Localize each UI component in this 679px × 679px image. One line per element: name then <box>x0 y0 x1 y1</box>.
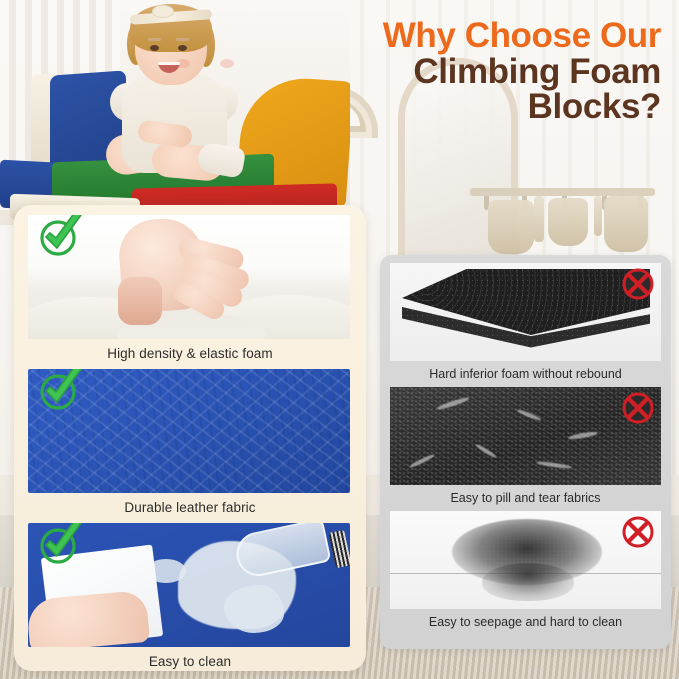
pro-image-leather-fabric <box>28 369 350 493</box>
green-check-icon <box>34 369 88 417</box>
hand-pressing-foam <box>112 219 262 325</box>
wall-hook-rail <box>470 188 655 196</box>
green-check-icon <box>34 215 88 263</box>
con-item-1: Hard inferior foam without rebound <box>390 263 661 386</box>
pro-caption-3: Easy to clean <box>28 647 352 675</box>
con-caption-2: Easy to pill and tear fabrics <box>390 485 661 510</box>
page-title: Why Choose Our Climbing Foam Blocks? <box>323 18 661 125</box>
pros-card: High density & elastic foam Durable leat… <box>14 205 366 671</box>
con-item-2: Easy to pill and tear fabrics <box>390 387 661 510</box>
pro-item-2: Durable leather fabric <box>28 369 352 521</box>
con-image-seepage-stain <box>390 511 661 609</box>
red-x-icon <box>621 391 655 425</box>
con-image-pilled-fabric <box>390 387 661 485</box>
headline-line-3: Blocks? <box>323 89 661 125</box>
con-item-3: Easy to seepage and hard to clean <box>390 511 661 634</box>
headline-line-2: Climbing Foam <box>323 54 661 90</box>
pro-item-3: Easy to clean <box>28 523 352 675</box>
pro-image-high-density-foam <box>28 215 350 339</box>
con-caption-3: Easy to seepage and hard to clean <box>390 609 661 634</box>
tassel-decor-2 <box>594 196 602 236</box>
hanging-basket-2 <box>548 198 588 246</box>
cons-card: Hard inferior foam without rebound Easy … <box>380 255 671 649</box>
baby-eye-left <box>150 45 159 51</box>
pro-caption-2: Durable leather fabric <box>28 493 352 521</box>
hanging-basket-3 <box>604 196 648 252</box>
baby-eye-right <box>178 45 187 51</box>
pro-image-easy-to-clean <box>28 523 350 647</box>
con-caption-1: Hard inferior foam without rebound <box>390 361 661 386</box>
pro-item-1: High density & elastic foam <box>28 215 352 367</box>
baby-bow <box>152 5 174 18</box>
con-image-hard-foam <box>390 263 661 361</box>
hero-product-photo <box>0 0 350 225</box>
pro-caption-1: High density & elastic foam <box>28 339 352 367</box>
hanging-basket-1 <box>488 200 534 254</box>
tassel-decor-1 <box>534 196 544 242</box>
baby-figure <box>100 5 250 193</box>
infographic-root: Why Choose Our Climbing Foam Blocks? <box>0 0 679 679</box>
headline-line-1: Why Choose Our <box>323 18 661 54</box>
